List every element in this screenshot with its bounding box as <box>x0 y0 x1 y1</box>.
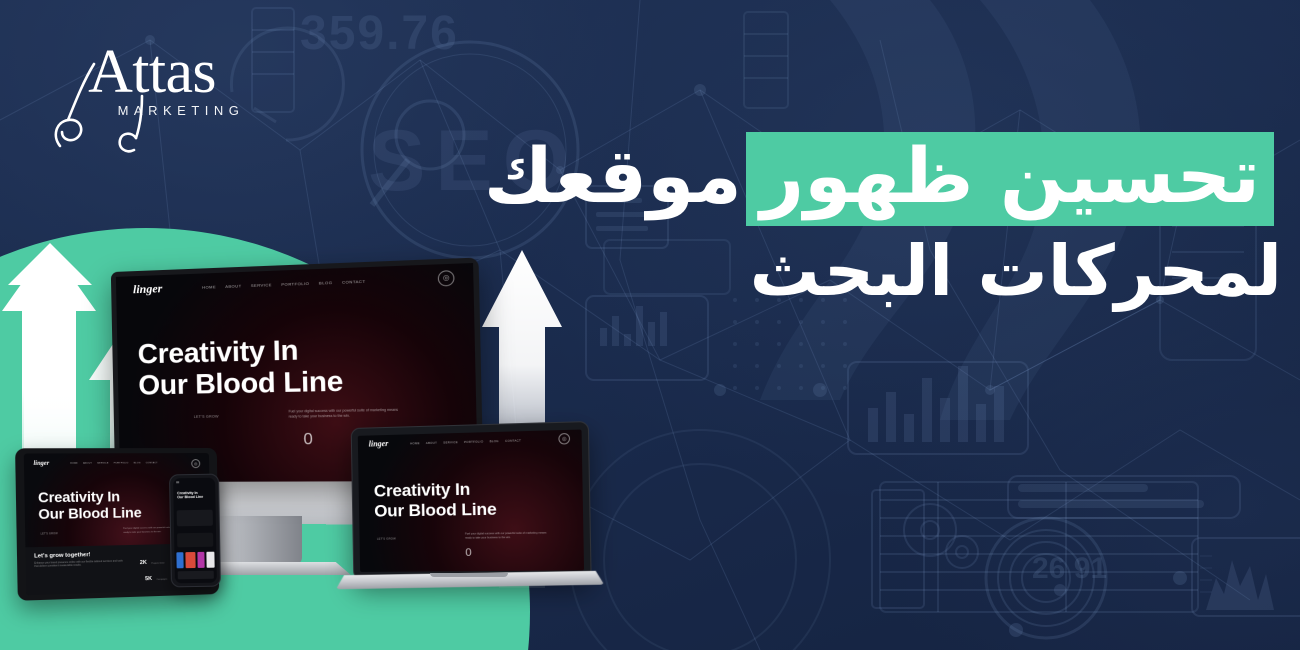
phone-mockup: Creativity In Our Blood Line <box>169 474 221 588</box>
nav-item-blog[interactable]: BLOG <box>319 280 333 286</box>
site-menu: HOME ABOUT SERVICE PORTFOLIO BLOG CONTAC… <box>202 278 365 289</box>
laptop-hero-title-line1: Creativity In <box>374 480 471 501</box>
tablet-nav-item-home[interactable]: HOME <box>70 463 78 465</box>
phone-card-footer <box>178 571 213 579</box>
hero-title-line1: Creativity In <box>137 333 298 369</box>
imac-hero-sub: Fuel your digital success with our power… <box>288 407 450 420</box>
tablet-nav-item-contact[interactable]: CONTACT <box>146 462 158 464</box>
headline-line-2: لمحركات البحث <box>442 236 1282 308</box>
background-number-small: 26 91 <box>1032 552 1107 586</box>
laptop-nav-item-portfolio[interactable]: PORTFOLIO <box>464 439 483 444</box>
laptop-hero-sub-line1: Fuel your digital success with our power… <box>465 531 546 535</box>
nav-item-portfolio[interactable]: PORTFOLIO <box>281 281 309 287</box>
laptop-cart-icon[interactable]: ◎ <box>558 433 570 445</box>
laptop-nav-item-contact[interactable]: CONTACT <box>505 438 521 443</box>
tablet-hero-title-line2: Our Blood Line <box>38 504 142 522</box>
phone-card-stats <box>177 509 213 526</box>
grow-stat-2-label: Campaigns <box>157 578 168 580</box>
tablet-cart-icon[interactable]: ◎ <box>191 459 200 468</box>
headline-line-1: تحسين ظهور موقعك <box>442 132 1282 226</box>
tablet-site-logo[interactable]: linger <box>33 461 49 467</box>
tablet-site-menu: HOME ABOUT SERVICE PORTFOLIO BLOG CONTAC… <box>70 462 158 464</box>
imac-hero-tag: Let's Grow <box>194 415 219 419</box>
tablet-nav-item-blog[interactable]: BLOG <box>134 463 141 465</box>
laptop-nav-item-service[interactable]: SERVICE <box>443 440 458 444</box>
laptop-bezel: linger HOME ABOUT SERVICE PORTFOLIO BLOG… <box>351 421 592 580</box>
phone-card-gallery <box>176 551 215 568</box>
site-navbar: linger HOME ABOUT SERVICE PORTFOLIO BLOG… <box>116 263 474 304</box>
nav-item-about[interactable]: ABOUT <box>225 283 241 289</box>
headline-block: تحسين ظهور موقعك لمحركات البحث <box>442 132 1282 308</box>
laptop-site-navbar: linger HOME ABOUT SERVICE PORTFOLIO BLOG… <box>358 430 582 454</box>
headline-highlight: تحسين ظهور <box>746 132 1274 226</box>
nav-item-home[interactable]: HOME <box>202 284 216 290</box>
hero-title-line2: Our Blood Line <box>138 365 343 401</box>
grow-stat-0-label: Projects Done <box>151 562 164 564</box>
brand-name: Attas <box>52 44 252 101</box>
laptop-site-menu: HOME ABOUT SERVICE PORTFOLIO BLOG CONTAC… <box>410 438 521 445</box>
phone-hero-title: Creativity In Our Blood Line <box>177 490 203 499</box>
imac-counter: 0 <box>303 431 313 450</box>
headline-line2-text: لمحركات البحث <box>750 236 1282 308</box>
phone-hero-title-line2: Our Blood Line <box>177 495 203 499</box>
laptop-screen: linger HOME ABOUT SERVICE PORTFOLIO BLOG… <box>358 430 584 572</box>
tablet-hero-title-line1: Creativity In <box>38 488 120 505</box>
tablet-nav-item-about[interactable]: ABOUT <box>83 463 92 465</box>
laptop-site-logo[interactable]: linger <box>369 439 389 449</box>
laptop-mockup: linger HOME ABOUT SERVICE PORTFOLIO BLOG… <box>351 421 592 580</box>
hero-sub-line1: Fuel your digital success with our power… <box>288 408 398 414</box>
grow-body: Enhance your brand presence online with … <box>34 559 123 569</box>
laptop-counter: 0 <box>465 546 472 558</box>
brand-logo[interactable]: Attas MARKETING <box>52 44 252 118</box>
imac-hero-title: Creativity In Our Blood Line <box>137 332 343 402</box>
laptop-hero-sub-line2: ready to take your business to the win. <box>465 536 511 540</box>
tablet-hero-tag: Let's Grow <box>41 532 58 535</box>
grow-stat-2-value: 5K <box>145 576 152 582</box>
laptop-nav-item-blog[interactable]: BLOG <box>490 439 499 443</box>
tablet-hero-title: Creativity In Our Blood Line <box>38 489 142 523</box>
laptop-base-notch <box>430 573 508 577</box>
laptop-hero-title-line2: Our Blood Line <box>374 499 497 520</box>
grow-stat-0-value: 2K <box>140 560 147 566</box>
laptop-nav-item-about[interactable]: ABOUT <box>426 441 437 445</box>
headline-line1-plain: موقعك <box>484 138 742 216</box>
hero-sub-line2: ready to take your business to the win. <box>289 414 350 419</box>
phone-card-logos <box>177 532 213 547</box>
phone-screen: Creativity In Our Blood Line <box>173 478 217 584</box>
site-logo[interactable]: linger <box>133 281 163 297</box>
marketing-banner: 359.76 SEO 26 91 68 <box>0 0 1300 650</box>
phone-statusbar <box>177 481 194 484</box>
nav-item-contact[interactable]: CONTACT <box>342 278 366 284</box>
laptop-hero-tag: Let's Grow <box>377 536 396 540</box>
nav-item-service[interactable]: SERVICE <box>251 282 272 288</box>
laptop-nav-item-home[interactable]: HOME <box>410 441 420 445</box>
phone-bezel: Creativity In Our Blood Line <box>169 474 221 588</box>
tablet-hero-sub-line2: ready to take your business to the win. <box>123 531 161 534</box>
laptop-hero-title: Creativity In Our Blood Line <box>374 479 497 520</box>
tablet-nav-item-portfolio[interactable]: PORTFOLIO <box>114 463 129 465</box>
grow-stat-2: 5K Campaigns <box>145 566 167 585</box>
tablet-site-navbar: linger HOME ABOUT SERVICE PORTFOLIO BLOG… <box>24 453 210 475</box>
laptop-hero-sub: Fuel your digital success with our power… <box>465 531 570 540</box>
brand-tagline: MARKETING <box>52 103 252 118</box>
tablet-nav-item-service[interactable]: SERVICE <box>97 463 108 465</box>
